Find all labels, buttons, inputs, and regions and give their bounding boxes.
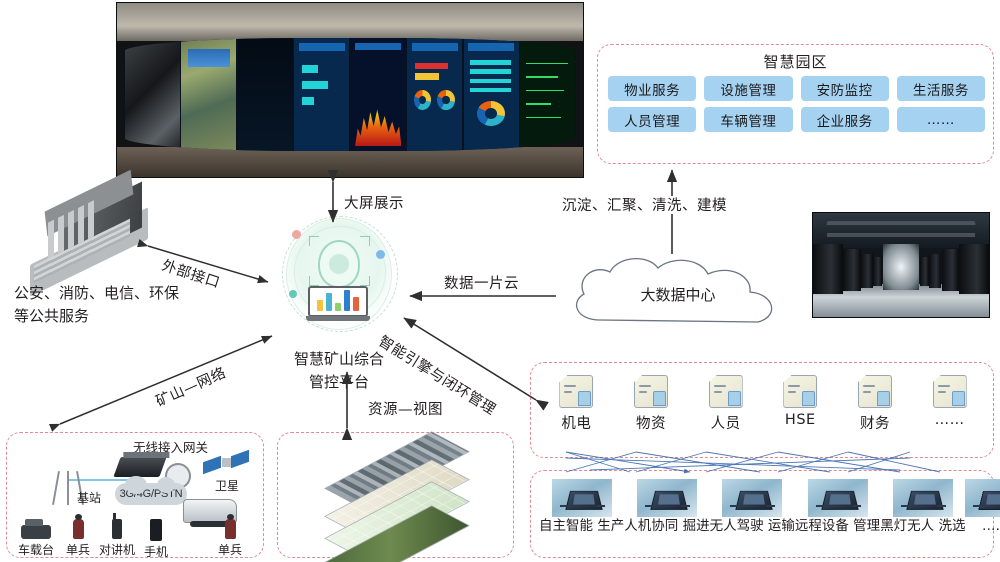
scenario-human-machine-tunneling[interactable]: 人机协同 掘进 (624, 479, 709, 534)
device-label: 对讲机 (99, 541, 135, 558)
wall-panel-scada (520, 38, 575, 151)
public-services-label: 公安、消防、电信、环保等公共服务 (14, 282, 184, 329)
chip-icon (722, 479, 782, 517)
government-building-icon (22, 176, 172, 286)
server-rack (929, 254, 941, 288)
wireless-network-panel: 无线接入网关 基站 卫星 3G/4G/PSTN 车载台 单兵 对讲机 手机 (6, 432, 264, 558)
device-walkie-talkie: 对讲机 (99, 519, 135, 558)
accent-dot-icon (289, 290, 297, 298)
wall-panel-cctv (125, 38, 180, 151)
scenario-label: 远程设备 管理 (795, 518, 880, 534)
server-icon (856, 373, 894, 409)
platform-icon (276, 212, 402, 344)
wall-panel-dashboard-3 (464, 38, 519, 151)
module-personnel[interactable]: 人员 (688, 373, 763, 433)
data-center-photo (812, 212, 990, 318)
wall-panel-tunnel (238, 38, 293, 151)
accent-dot-icon (376, 250, 385, 259)
base-station-label: 基站 (77, 489, 101, 506)
business-modules-panel: 机电 物资 人员 (530, 362, 994, 458)
module-electromechanical[interactable]: 机电 (539, 373, 614, 433)
device-label: 车载台 (15, 541, 57, 558)
wall-panel-dashboard-2 (407, 38, 462, 151)
park-item-more[interactable]: …… (897, 107, 985, 132)
cloud-label: 大数据中心 (560, 284, 796, 305)
accent-dot-icon (292, 230, 301, 239)
big-data-center-cloud: 大数据中心 (560, 254, 796, 334)
park-item-vehicle-management[interactable]: 车辆管理 (704, 107, 792, 132)
scenario-remote-equipment-management[interactable]: 远程设备 管理 (795, 479, 880, 534)
device-label: 单兵 (215, 541, 245, 558)
soldier-icon (73, 519, 84, 539)
label-mine-network: 矿山—网络 (152, 361, 229, 411)
park-item-personnel-management[interactable]: 人员管理 (608, 107, 696, 132)
server-rack (959, 244, 989, 294)
chip-icon (965, 479, 1000, 517)
wall-panel-map (181, 38, 236, 151)
park-item-life-service[interactable]: 生活服务 (897, 76, 985, 101)
scan-bracket-icon (360, 236, 370, 246)
park-item-property-service[interactable]: 物业服务 (608, 76, 696, 101)
module-hse[interactable]: HSE (763, 373, 838, 433)
module-label: …… (935, 412, 965, 428)
network-cloud-label: 3G/4G/PSTN (115, 483, 187, 505)
module-label: 物资 (636, 412, 666, 433)
device-soldier-1: 单兵 (63, 519, 93, 558)
chip-icon (808, 479, 868, 517)
smart-park-grid: 物业服务 设施管理 安防监控 生活服务 人员管理 车辆管理 企业服务 …… (608, 76, 985, 132)
park-item-facility-management[interactable]: 设施管理 (704, 76, 792, 101)
scenario-label: 自主智能 生产 (539, 518, 624, 534)
scenario-more[interactable]: …… (965, 479, 1000, 534)
video-wall (124, 38, 576, 151)
smart-park-panel: 智慧园区 物业服务 设施管理 安防监控 生活服务 人员管理 车辆管理 企业服务 … (597, 44, 994, 164)
scenarios-row: 自主智能 生产 人机协同 掘进 无人驾驶 运输 远程设备 管理 (539, 479, 987, 534)
phone-icon (150, 519, 162, 541)
server-rack (942, 249, 960, 291)
scenario-lights-out-washing[interactable]: 黑灯无人 洗选 (880, 479, 965, 534)
wall-panel-dashboard-1 (294, 38, 349, 151)
smart-scenarios-panel: 自主智能 生产 人机协同 掘进 无人驾驶 运输 远程设备 管理 (530, 470, 994, 558)
modules-row: 机电 物资 人员 (539, 373, 987, 433)
laptop-screen (308, 286, 368, 317)
server-icon (557, 373, 595, 409)
ceiling (117, 3, 583, 41)
scan-bracket-icon (309, 236, 319, 246)
server-rack (861, 254, 873, 288)
scenario-driverless-transport[interactable]: 无人驾驶 运输 (710, 479, 795, 534)
module-label: 人员 (711, 412, 741, 433)
walkie-talkie-icon (112, 519, 122, 539)
control-room-photo (116, 2, 584, 178)
ai-face-icon (318, 240, 360, 288)
module-materials[interactable]: 物资 (614, 373, 689, 433)
dc-aisle (883, 244, 918, 290)
label-resource-view: 资源—视图 (368, 398, 443, 419)
vehicle-terminal-icon (21, 525, 51, 539)
scenario-autonomous-production[interactable]: 自主智能 生产 (539, 479, 624, 534)
dc-ceiling (813, 213, 989, 248)
module-more[interactable]: …… (912, 373, 987, 433)
server-rack (843, 249, 861, 291)
server-icon (931, 373, 969, 409)
label-data-pipeline: 沉淀、汇聚、清洗、建模 (562, 194, 727, 215)
gis-layers-panel (277, 432, 514, 558)
scan-bracket-icon (309, 276, 319, 286)
floor (117, 147, 583, 177)
label-data-one-cloud: 数据一片云 (444, 272, 519, 293)
module-label: HSE (785, 412, 816, 428)
module-label: 机电 (561, 412, 591, 433)
device-soldier-2: 单兵 (215, 519, 245, 558)
park-item-enterprise-service[interactable]: 企业服务 (801, 107, 889, 132)
scan-bracket-icon (360, 276, 370, 286)
scenario-label: 黑灯无人 洗选 (880, 518, 965, 534)
device-label: 手机 (141, 543, 171, 560)
server-rack (873, 257, 882, 286)
chip-icon (552, 479, 612, 517)
diagram-canvas: 智慧园区 物业服务 设施管理 安防监控 生活服务 人员管理 车辆管理 企业服务 … (0, 0, 1000, 562)
scenario-label: 无人驾驶 运输 (710, 518, 795, 534)
server-icon (632, 373, 670, 409)
server-icon (707, 373, 745, 409)
scenario-label: 人机协同 掘进 (624, 518, 709, 534)
device-label: 单兵 (63, 541, 93, 558)
smart-park-title: 智慧园区 (598, 51, 993, 72)
module-label: 财务 (860, 412, 890, 433)
wall-panel-spectrum (351, 38, 406, 151)
device-vehicle-terminal: 车载台 (15, 525, 57, 558)
laptop-base (306, 316, 370, 321)
module-finance[interactable]: 财务 (838, 373, 913, 433)
server-rack (920, 257, 929, 286)
scenario-label: …… (982, 518, 1000, 534)
server-icon (781, 373, 819, 409)
satellite-icon (203, 453, 251, 475)
dashboard-laptop-icon (306, 286, 370, 324)
gateway-device-icon (113, 457, 166, 477)
soldier-icon (225, 519, 236, 539)
park-item-security-monitoring[interactable]: 安防监控 (801, 76, 889, 101)
device-mobile-phone: 手机 (141, 519, 171, 560)
server-rack (813, 244, 843, 294)
satellite-label: 卫星 (215, 477, 239, 494)
chip-icon (637, 479, 697, 517)
label-big-screen-display: 大屏展示 (344, 192, 404, 213)
chip-icon (893, 479, 953, 517)
